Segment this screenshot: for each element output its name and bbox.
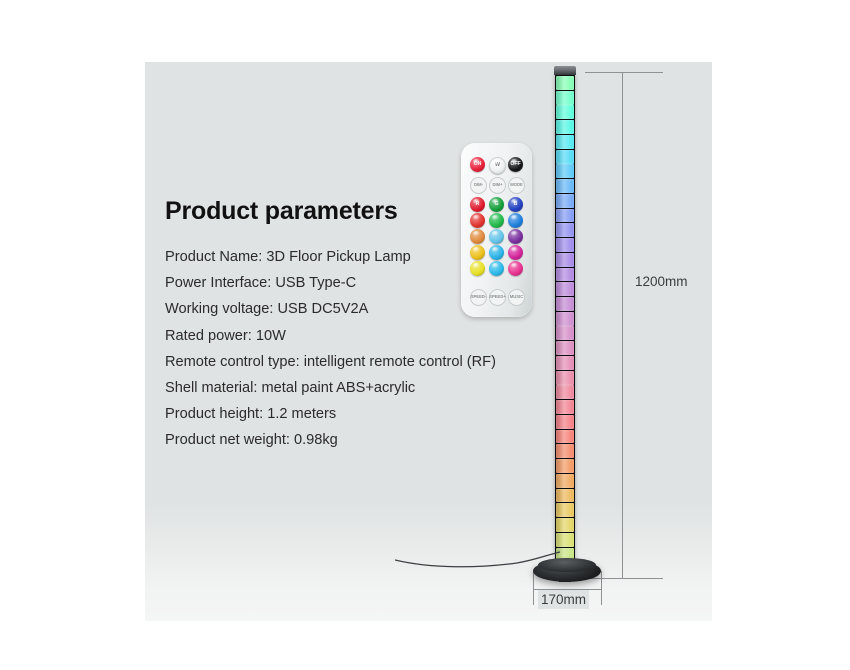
remote-button-color-r4-c1[interactable] bbox=[489, 229, 504, 244]
remote-button-color-r4-c2[interactable] bbox=[508, 229, 523, 244]
lamp-base-top bbox=[538, 558, 596, 572]
led-segment bbox=[556, 238, 574, 252]
width-dim-left-tick bbox=[533, 571, 534, 605]
led-segment bbox=[556, 164, 574, 178]
led-segment bbox=[556, 150, 574, 164]
remote-button-off[interactable]: OFF bbox=[508, 157, 523, 172]
led-segment bbox=[556, 179, 574, 193]
remote-button-color-r3-c1[interactable] bbox=[489, 213, 504, 228]
led-segment bbox=[556, 474, 574, 488]
led-segment bbox=[556, 76, 574, 90]
led-segment bbox=[556, 415, 574, 429]
led-segment bbox=[556, 444, 574, 458]
led-segment bbox=[556, 400, 574, 414]
remote-button-color-r6-c1[interactable] bbox=[489, 261, 504, 276]
remote-button-dim-[interactable]: DIM+ bbox=[489, 177, 506, 194]
led-segment bbox=[556, 223, 574, 237]
led-segment bbox=[556, 253, 574, 267]
page-title: Product parameters bbox=[165, 197, 398, 226]
remote-button-b[interactable]: B bbox=[508, 197, 523, 212]
led-segment bbox=[556, 105, 574, 119]
led-segment bbox=[556, 194, 574, 208]
height-dim-bottom-tick bbox=[585, 578, 663, 579]
led-segment bbox=[556, 120, 574, 134]
led-segment bbox=[556, 430, 574, 444]
remote-button-color-r4-c0[interactable] bbox=[470, 229, 485, 244]
height-dim-label: 1200mm bbox=[631, 271, 692, 292]
spec-line: Power Interface: USB Type-C bbox=[165, 270, 475, 296]
product-spec-image: 1200mm 170mm ONWOFFDIM-DIM+MODERGBSPEED-… bbox=[0, 0, 850, 670]
led-segment bbox=[556, 312, 574, 326]
remote-button-color-r6-c2[interactable] bbox=[508, 261, 523, 276]
led-segment bbox=[556, 282, 574, 296]
led-segment bbox=[556, 385, 574, 399]
remote-button-g[interactable]: G bbox=[489, 197, 504, 212]
spec-line: Rated power: 10W bbox=[165, 323, 475, 349]
spec-line: Product height: 1.2 meters bbox=[165, 401, 475, 427]
height-dim-top-tick bbox=[585, 72, 663, 73]
led-floor-lamp bbox=[553, 66, 577, 578]
remote-button-mode[interactable]: MODE bbox=[508, 177, 525, 194]
led-segment bbox=[556, 268, 574, 282]
led-segment bbox=[556, 503, 574, 517]
spec-line: Product Name: 3D Floor Pickup Lamp bbox=[165, 244, 475, 270]
led-segment bbox=[556, 459, 574, 473]
remote-button-color-r3-c2[interactable] bbox=[508, 213, 523, 228]
width-dim-right-tick bbox=[601, 571, 602, 605]
led-segment bbox=[556, 326, 574, 340]
led-segment bbox=[556, 135, 574, 149]
led-segment bbox=[556, 371, 574, 385]
width-dim-label: 170mm bbox=[538, 590, 589, 609]
remote-button-speed-[interactable]: SPEED+ bbox=[489, 289, 506, 306]
height-dim-line bbox=[622, 72, 623, 579]
spec-line: Working voltage: USB DC5V2A bbox=[165, 296, 475, 322]
led-segment bbox=[556, 297, 574, 311]
spec-list: Product Name: 3D Floor Pickup LampPower … bbox=[165, 244, 475, 454]
remote-button-color-r5-c2[interactable] bbox=[508, 245, 523, 260]
remote-button-w[interactable]: W bbox=[489, 157, 506, 174]
remote-button-on[interactable]: ON bbox=[470, 157, 485, 172]
led-segment bbox=[556, 209, 574, 223]
spec-line: Product net weight: 0.98kg bbox=[165, 427, 475, 453]
led-segment bbox=[556, 341, 574, 355]
led-segment bbox=[556, 356, 574, 370]
lamp-top-cap bbox=[554, 66, 576, 75]
led-segment bbox=[556, 518, 574, 532]
spec-line: Remote control type: intelligent remote … bbox=[165, 349, 475, 375]
remote-button-color-r3-c0[interactable] bbox=[470, 213, 485, 228]
led-segment bbox=[556, 91, 574, 105]
remote-button-dim-[interactable]: DIM- bbox=[470, 177, 487, 194]
lamp-led-strip bbox=[555, 75, 575, 578]
remote-button-color-r5-c1[interactable] bbox=[489, 245, 504, 260]
remote-button-r[interactable]: R bbox=[470, 197, 485, 212]
spec-line: Shell material: metal paint ABS+acrylic bbox=[165, 375, 475, 401]
remote-button-music[interactable]: MUSIC bbox=[508, 289, 525, 306]
led-segment bbox=[556, 489, 574, 503]
